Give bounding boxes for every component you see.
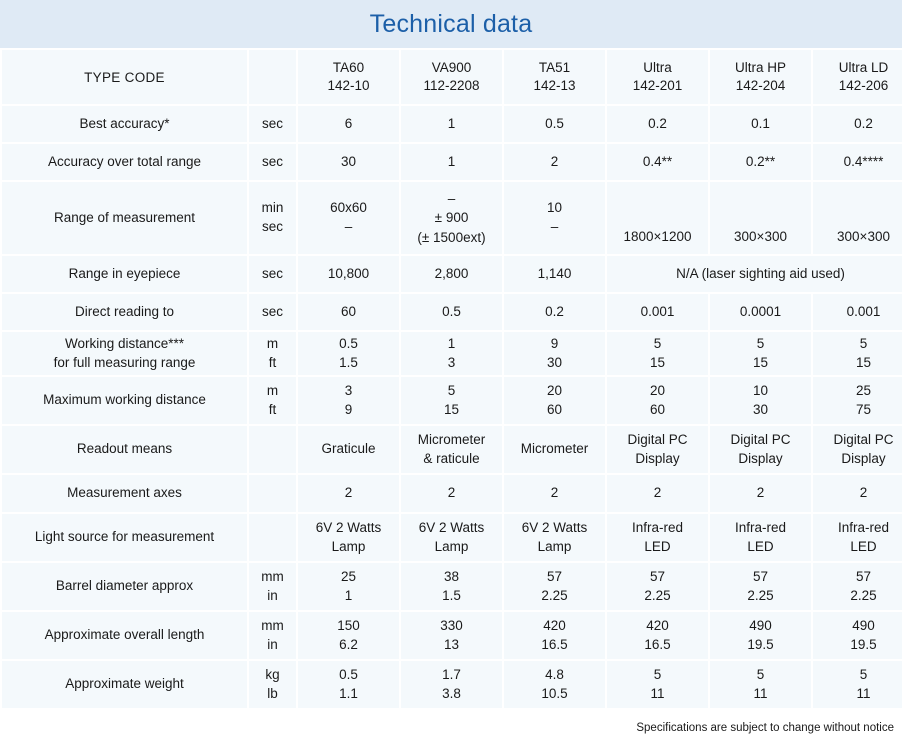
- cell-value: 10,800: [298, 256, 399, 292]
- row-label: Readout means: [2, 426, 247, 473]
- row-unit-stack: mm in: [249, 563, 296, 610]
- col-name: Ultra: [643, 60, 672, 75]
- row-label: Approximate overall length: [2, 612, 247, 659]
- value-bottom: 9: [345, 402, 353, 417]
- col-code: 142-206: [839, 78, 889, 93]
- value-top: 6V 2 Watts: [316, 520, 382, 535]
- unit-top: min: [262, 199, 284, 218]
- value-bottom: Lamp: [435, 539, 469, 554]
- col-name: TA60: [333, 60, 364, 75]
- cell-value-stack: 5 15: [813, 332, 902, 375]
- unit-top: m: [267, 336, 278, 351]
- table-row-weight: Approximate weight kg lb 0.5 1.1 1.7 3.8…: [2, 661, 902, 708]
- cell-value-stack: 0.5 1.1: [298, 661, 399, 708]
- table-row-measurement-axes: Measurement axes 2 2 2 2 2 2: [2, 475, 902, 512]
- cell-value: 0.2: [813, 106, 902, 142]
- value-top: 10: [547, 199, 562, 218]
- value-top: Digital PC: [833, 432, 893, 447]
- table-row-range-in-eyepiece: Range in eyepiece sec 10,800 2,800 1,140…: [2, 256, 902, 292]
- value-top: 5: [448, 383, 456, 398]
- value-top: 490: [749, 618, 772, 633]
- cell-value-stack: 20 60: [504, 377, 605, 424]
- value-bottom: 1.1: [339, 686, 358, 701]
- value-bottom: 2.25: [541, 588, 567, 603]
- table-row-max-working-distance: Maximum working distance m ft 3 9 5 15 2…: [2, 377, 902, 424]
- cell-value-stack: – ± 900 (± 1500ext): [401, 182, 502, 254]
- cell-value-stack: 6V 2 Watts Lamp: [298, 514, 399, 561]
- value-bottom: 30: [753, 402, 768, 417]
- value-top: 1.7: [442, 667, 461, 682]
- cell-value-stack: 5 11: [710, 661, 811, 708]
- value-bottom: 16.5: [541, 637, 567, 652]
- value-bottom: 11: [753, 686, 767, 701]
- value-top: 25: [341, 569, 356, 584]
- value-top: 57: [650, 569, 665, 584]
- cell-value-stack: Digital PC Display: [710, 426, 811, 473]
- table-row-range-of-measurement: Range of measurement min sec 60x60 – – ±…: [2, 182, 902, 254]
- value-top: 0.5: [339, 336, 358, 351]
- value-bottom: LED: [850, 539, 876, 554]
- cell-value: 2,800: [401, 256, 502, 292]
- cell-value: 2: [607, 475, 708, 512]
- value-bottom: 2.25: [850, 588, 876, 603]
- value-top: 57: [547, 569, 562, 584]
- value-top: 38: [444, 569, 459, 584]
- cell-value: 0.2: [607, 106, 708, 142]
- row-label: Barrel diameter approx: [2, 563, 247, 610]
- col-code: 142-204: [736, 78, 786, 93]
- value-top: 10: [753, 383, 768, 398]
- table-row-barrel-diameter: Barrel diameter approx mm in 25 1 38 1.5…: [2, 563, 902, 610]
- cell-value-stack: 420 16.5: [504, 612, 605, 659]
- row-unit: sec: [249, 294, 296, 330]
- value-top: 420: [543, 618, 566, 633]
- value-bottom: 1.5: [442, 588, 461, 603]
- label-bottom: for full measuring range: [54, 355, 196, 370]
- value-top: 57: [753, 569, 768, 584]
- value-top: 150: [337, 618, 360, 633]
- cell-value: 0.0001: [710, 294, 811, 330]
- col-name: Ultra LD: [839, 60, 889, 75]
- value-bottom: 2.25: [747, 588, 773, 603]
- value-bottom: Display: [738, 451, 782, 466]
- value-top: 0.5: [339, 667, 358, 682]
- value-bottom: 60: [650, 402, 665, 417]
- value-bottom: LED: [644, 539, 670, 554]
- value-top: 6V 2 Watts: [522, 520, 588, 535]
- unit-bottom: in: [267, 637, 278, 652]
- row-label: Measurement axes: [2, 475, 247, 512]
- value-top: 57: [856, 569, 871, 584]
- value-bottom: 16.5: [644, 637, 670, 652]
- table-row-readout-means: Readout means Graticule Micrometer & rat…: [2, 426, 902, 473]
- cell-value: 0.2: [504, 294, 605, 330]
- value-top: 20: [547, 383, 562, 398]
- cell-value-stack: 330 13: [401, 612, 502, 659]
- cell-value-stack: 57 2.25: [504, 563, 605, 610]
- cell-value: 2: [298, 475, 399, 512]
- header-col-ultra-ld: Ultra LD 142-206: [813, 50, 902, 104]
- row-label-stack: Working distance*** for full measuring r…: [2, 332, 247, 375]
- cell-value-stack: Digital PC Display: [607, 426, 708, 473]
- value-top: 3: [345, 383, 353, 398]
- value-bottom: 60: [547, 402, 562, 417]
- cell-value: 0.2**: [710, 144, 811, 180]
- value-bottom: 11: [856, 686, 870, 701]
- value-bottom: 300×300: [837, 229, 890, 244]
- page-title-band: Technical data: [0, 0, 902, 48]
- technical-data-page: Technical data TYPE CODE TA60 142-10 VA9…: [0, 0, 902, 755]
- cell-value-stack: 1.7 3.8: [401, 661, 502, 708]
- value-bottom: –: [551, 218, 559, 237]
- value-top: Graticule: [321, 441, 375, 456]
- value-bottom: 1800×1200: [624, 229, 692, 244]
- cell-value: 0.4****: [813, 144, 902, 180]
- cell-value-stack: 1 3: [401, 332, 502, 375]
- value-bottom: & raticule: [423, 451, 479, 466]
- cell-value-stack: 60x60 –: [298, 182, 399, 254]
- value-bottom: 10.5: [541, 686, 567, 701]
- table-row-overall-length: Approximate overall length mm in 150 6.2…: [2, 612, 902, 659]
- unit-bottom: ft: [269, 355, 277, 370]
- cell-value-stack: Infra-red LED: [813, 514, 902, 561]
- cell-value: Micrometer: [504, 426, 605, 473]
- cell-value: 1: [401, 144, 502, 180]
- cell-value-stack: 10 –: [504, 182, 605, 254]
- table-row-light-source: Light source for measurement 6V 2 Watts …: [2, 514, 902, 561]
- cell-value: 2: [401, 475, 502, 512]
- value-bottom: 6.2: [339, 637, 358, 652]
- cell-value: 30: [298, 144, 399, 180]
- table-row-working-distance: Working distance*** for full measuring r…: [2, 332, 902, 375]
- cell-value: 1,140: [504, 256, 605, 292]
- cell-value-stack: 3 9: [298, 377, 399, 424]
- row-label: Light source for measurement: [2, 514, 247, 561]
- cell-value: 0.5: [401, 294, 502, 330]
- col-name: VA900: [432, 60, 472, 75]
- value-bottom: Lamp: [332, 539, 366, 554]
- header-col-ultra-hp: Ultra HP 142-204: [710, 50, 811, 104]
- unit-bottom: ft: [269, 402, 277, 417]
- cell-value-stack: 0.5 1.5: [298, 332, 399, 375]
- cell-value-stack: Digital PC Display: [813, 426, 902, 473]
- value-top: 5: [654, 667, 662, 682]
- unit-top: kg: [265, 667, 279, 682]
- value-top: Infra-red: [632, 520, 683, 535]
- cell-value-stack: 300×300: [710, 182, 811, 254]
- cell-value-stack: 9 30: [504, 332, 605, 375]
- cell-value: 0.4**: [607, 144, 708, 180]
- value-top: Infra-red: [735, 520, 786, 535]
- value-bottom: 15: [753, 355, 768, 370]
- row-label: Direct reading to: [2, 294, 247, 330]
- row-label: Range of measurement: [2, 182, 247, 254]
- technical-data-table: TYPE CODE TA60 142-10 VA900 112-2208 TA5…: [0, 48, 902, 710]
- value-bottom: 15: [650, 355, 665, 370]
- unit-bottom: sec: [262, 218, 283, 237]
- header-col-ultra: Ultra 142-201: [607, 50, 708, 104]
- cell-value-stack: 38 1.5: [401, 563, 502, 610]
- value-top: Micrometer: [418, 432, 486, 447]
- page-title: Technical data: [370, 10, 533, 39]
- header-type-code: TYPE CODE: [2, 50, 247, 104]
- value-top: 4.8: [545, 667, 564, 682]
- value-bottom: 19.5: [747, 637, 773, 652]
- unit-top: mm: [261, 569, 284, 584]
- value-bottom: –: [345, 218, 353, 237]
- row-unit-stack: mm in: [249, 612, 296, 659]
- cell-value: 0.1: [710, 106, 811, 142]
- row-label: Accuracy over total range: [2, 144, 247, 180]
- value-top: 6V 2 Watts: [419, 520, 485, 535]
- value-top: 5: [757, 336, 765, 351]
- col-name: TA51: [539, 60, 570, 75]
- value-bottom: 30: [547, 355, 562, 370]
- cell-value: 0.5: [504, 106, 605, 142]
- value-bottom: 19.5: [850, 637, 876, 652]
- value-bottom: 3: [448, 355, 456, 370]
- value-bottom: 15: [444, 402, 459, 417]
- value-top: 490: [852, 618, 875, 633]
- cell-value-stack: 5 15: [710, 332, 811, 375]
- table-row-accuracy-total-range: Accuracy over total range sec 30 1 2 0.4…: [2, 144, 902, 180]
- table-row-direct-reading-to: Direct reading to sec 60 0.5 0.2 0.001 0…: [2, 294, 902, 330]
- value-bottom: 15: [856, 355, 871, 370]
- col-code: 142-10: [327, 78, 369, 93]
- value-top: Infra-red: [838, 520, 889, 535]
- value-bottom: 1: [345, 588, 353, 603]
- cell-value-stack: 300×300: [813, 182, 902, 254]
- value-bottom: 1.5: [339, 355, 358, 370]
- header-col-va900: VA900 112-2208: [401, 50, 502, 104]
- row-unit: sec: [249, 256, 296, 292]
- col-code: 112-2208: [423, 78, 479, 93]
- cell-value-stack: 10 30: [710, 377, 811, 424]
- cell-value-stack: 490 19.5: [813, 612, 902, 659]
- value-bottom: 75: [856, 402, 871, 417]
- cell-value-stack: 25 1: [298, 563, 399, 610]
- value-bottom: 300×300: [734, 229, 787, 244]
- value-top: 5: [860, 336, 868, 351]
- row-unit-stack: min sec: [249, 182, 296, 254]
- cell-value-stack: 57 2.25: [710, 563, 811, 610]
- value-top: Digital PC: [730, 432, 790, 447]
- row-unit: sec: [249, 106, 296, 142]
- cell-value-stack: 1800×1200: [607, 182, 708, 254]
- cell-value-stack: 6V 2 Watts Lamp: [504, 514, 605, 561]
- value-top: 20: [650, 383, 665, 398]
- row-label: Maximum working distance: [2, 377, 247, 424]
- col-code: 142-201: [633, 78, 683, 93]
- row-unit-stack: kg lb: [249, 661, 296, 708]
- value-top: 25: [856, 383, 871, 398]
- cell-value: 6: [298, 106, 399, 142]
- value-top: 5: [757, 667, 765, 682]
- unit-top: mm: [261, 618, 284, 633]
- table-row-best-accuracy: Best accuracy* sec 6 1 0.5 0.2 0.1 0.2: [2, 106, 902, 142]
- cell-value-stack: 5 15: [607, 332, 708, 375]
- cell-value-stack: 5 15: [401, 377, 502, 424]
- header-col-ta60: TA60 142-10: [298, 50, 399, 104]
- cell-value-stack: Infra-red LED: [710, 514, 811, 561]
- row-unit: [249, 514, 296, 561]
- cell-value-stack: 5 11: [607, 661, 708, 708]
- value-bottom: 2.25: [644, 588, 670, 603]
- value-bottom: Display: [635, 451, 679, 466]
- row-unit-stack: m ft: [249, 377, 296, 424]
- cell-value: 2: [504, 475, 605, 512]
- row-unit: [249, 475, 296, 512]
- value-top: 9: [551, 336, 559, 351]
- cell-value-stack: 490 19.5: [710, 612, 811, 659]
- cell-value: 0.001: [813, 294, 902, 330]
- row-label: Approximate weight: [2, 661, 247, 708]
- value-top: 5: [860, 667, 868, 682]
- value-bottom: 11: [650, 686, 664, 701]
- cell-value-stack: 6V 2 Watts Lamp: [401, 514, 502, 561]
- row-unit: sec: [249, 144, 296, 180]
- value-bottom: Display: [841, 451, 885, 466]
- table-header-row: TYPE CODE TA60 142-10 VA900 112-2208 TA5…: [2, 50, 902, 104]
- value-mid: ± 900: [435, 210, 469, 225]
- cell-value-stack: 5 11: [813, 661, 902, 708]
- cell-value-stack: Micrometer & raticule: [401, 426, 502, 473]
- unit-top: m: [267, 383, 278, 398]
- value-top: Digital PC: [627, 432, 687, 447]
- header-col-ta51: TA51 142-13: [504, 50, 605, 104]
- col-code: 142-13: [533, 78, 575, 93]
- cell-value: 2: [813, 475, 902, 512]
- value-top: –: [448, 191, 456, 206]
- unit-bottom: in: [267, 588, 278, 603]
- cell-value-stack: 57 2.25: [813, 563, 902, 610]
- cell-value-stack: 4.8 10.5: [504, 661, 605, 708]
- cell-value: 2: [710, 475, 811, 512]
- value-bottom: Lamp: [538, 539, 572, 554]
- value-bottom: LED: [747, 539, 773, 554]
- row-label: Best accuracy*: [2, 106, 247, 142]
- cell-value-stack: Infra-red LED: [607, 514, 708, 561]
- value-top: 60x60: [330, 199, 367, 218]
- unit-bottom: lb: [267, 686, 278, 701]
- cell-value: 0.001: [607, 294, 708, 330]
- row-unit: [249, 426, 296, 473]
- header-unit-spacer: [249, 50, 296, 104]
- cell-value: 1: [401, 106, 502, 142]
- value-bottom: 3.8: [442, 686, 461, 701]
- footer-note: Specifications are subject to change wit…: [0, 710, 902, 734]
- cell-value-merged: N/A (laser sighting aid used): [607, 256, 902, 292]
- cell-value-stack: 20 60: [607, 377, 708, 424]
- row-unit-stack: m ft: [249, 332, 296, 375]
- value-top: 1: [448, 336, 456, 351]
- cell-value-stack: 25 75: [813, 377, 902, 424]
- value-top: 5: [654, 336, 662, 351]
- cell-value-stack: Graticule: [298, 426, 399, 473]
- cell-value: 2: [504, 144, 605, 180]
- row-label: Range in eyepiece: [2, 256, 247, 292]
- value-bottom: 13: [444, 637, 459, 652]
- value-bottom: (± 1500ext): [417, 230, 485, 245]
- value-top: 330: [440, 618, 463, 633]
- cell-value: 60: [298, 294, 399, 330]
- col-name: Ultra HP: [735, 60, 786, 75]
- cell-value-stack: 57 2.25: [607, 563, 708, 610]
- value-top: 420: [646, 618, 669, 633]
- cell-value-stack: 150 6.2: [298, 612, 399, 659]
- label-top: Working distance***: [65, 336, 184, 351]
- cell-value-stack: 420 16.5: [607, 612, 708, 659]
